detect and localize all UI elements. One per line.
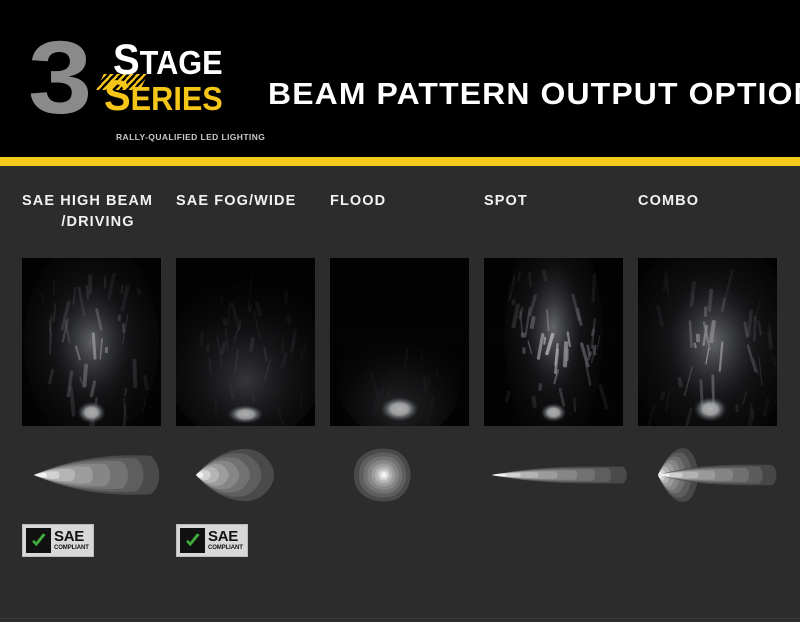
- sae-badge-title: SAE: [208, 529, 243, 544]
- beam-label-line-1: SPOT: [484, 193, 528, 209]
- beam-column-combo: COMBO: [632, 166, 784, 622]
- sae-badge-text: SAECOMPLIANT: [54, 529, 89, 552]
- checkmark-icon: [180, 528, 205, 553]
- beam-pattern-diagram-combo: [632, 440, 792, 510]
- stage-series-logo: 3 STAGE SERIES RALLY-QUALIFIED LED LIGHT…: [28, 28, 243, 128]
- yellow-divider-rule: [0, 157, 800, 166]
- beam-column-label: FLOOD: [330, 191, 482, 212]
- beam-column-label: SPOT: [484, 191, 636, 212]
- beam-pattern-diagram-flood: [324, 440, 484, 510]
- logo-series-capital: S: [104, 72, 131, 120]
- beam-pattern-columns: SAE HIGH BEAM/DRIVING SAECOMPLI: [0, 166, 800, 622]
- beam-label-line-1: SAE HIGH BEAM: [22, 193, 153, 209]
- beam-label-line-1: SAE FOG/WIDE: [176, 193, 296, 209]
- logo-numeral-3: 3: [28, 26, 85, 129]
- beam-column-label: SAE FOG/WIDE: [176, 191, 328, 212]
- beam-photo-flood: [330, 258, 469, 426]
- logo-tagline: RALLY-QUALIFIED LED LIGHTING: [116, 132, 265, 142]
- sae-compliant-badge: SAECOMPLIANT: [176, 524, 248, 557]
- beam-column-label: COMBO: [638, 191, 790, 212]
- logo-word-series: SERIES: [104, 80, 223, 115]
- sae-compliant-badge: SAECOMPLIANT: [22, 524, 94, 557]
- header-bar: 3 STAGE SERIES RALLY-QUALIFIED LED LIGHT…: [0, 0, 800, 157]
- beam-pattern-infographic: 3 STAGE SERIES RALLY-QUALIFIED LED LIGHT…: [0, 0, 800, 622]
- beam-photo-combo: [638, 258, 777, 426]
- page-title: BEAM PATTERN OUTPUT OPTIONS: [268, 77, 800, 111]
- beam-label-line-1: FLOOD: [330, 193, 386, 209]
- logo-series-rest: ERIES: [131, 80, 223, 117]
- beam-pattern-diagram-spot: [478, 440, 638, 510]
- sae-badge-subtitle: COMPLIANT: [208, 544, 243, 552]
- beam-pattern-diagram-driving: [16, 440, 176, 510]
- beam-column-sae-fog-wide: SAE FOG/WIDE SAECOMPLIANT: [170, 166, 322, 622]
- checkmark-icon: [26, 528, 51, 553]
- footer-divider: [0, 618, 800, 619]
- beam-column-label: SAE HIGH BEAM/DRIVING: [22, 191, 174, 233]
- beam-photo-driving: [22, 258, 161, 426]
- beam-pattern-diagram-wide: [170, 440, 330, 510]
- beam-column-sae-high-beam: SAE HIGH BEAM/DRIVING SAECOMPLI: [16, 166, 168, 622]
- beam-column-flood: FLOOD: [324, 166, 476, 622]
- sae-badge-title: SAE: [54, 529, 89, 544]
- sae-badge-text: SAECOMPLIANT: [208, 529, 243, 552]
- beam-column-spot: SPOT: [478, 166, 630, 622]
- sae-badge-subtitle: COMPLIANT: [54, 544, 89, 552]
- beam-photo-spot: [484, 258, 623, 426]
- beam-label-line-2: /DRIVING: [22, 212, 174, 233]
- beam-photo-wide: [176, 258, 315, 426]
- beam-label-line-1: COMBO: [638, 193, 699, 209]
- logo-stage-rest: TAGE: [140, 44, 223, 81]
